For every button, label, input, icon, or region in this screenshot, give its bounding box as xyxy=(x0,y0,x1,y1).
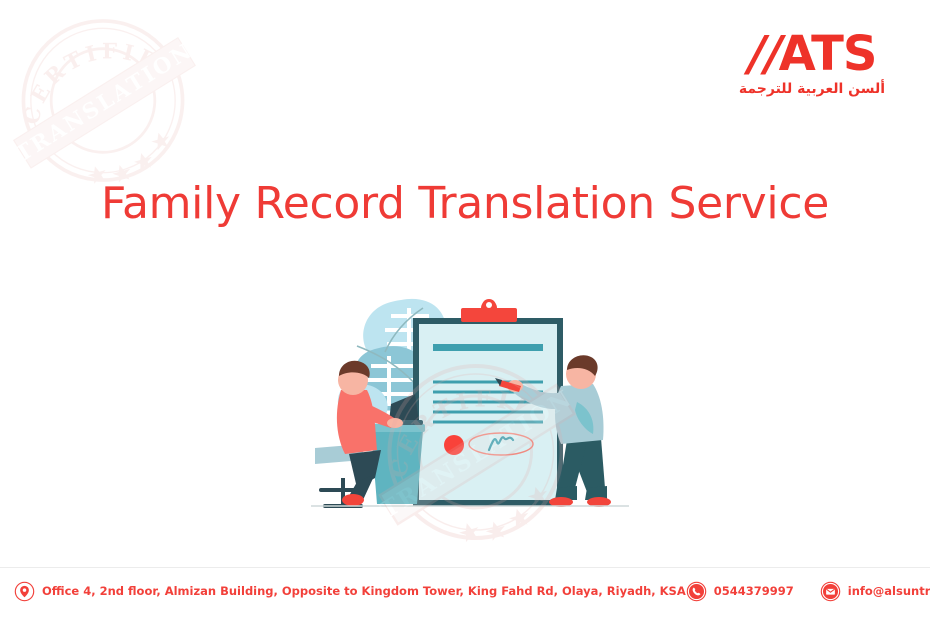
footer-divider xyxy=(0,567,930,568)
illustration-graphic xyxy=(305,282,635,522)
ats-logo: //ATS ألسن العربية للترجمة xyxy=(732,30,892,96)
logo-mark-text: ATS xyxy=(779,26,877,82)
footer-email-text: info@alsuntranslation.com xyxy=(848,584,930,598)
envelope-icon xyxy=(820,581,841,602)
footer-address: Office 4, 2nd floor, Almizan Building, O… xyxy=(14,581,686,602)
footer: Office 4, 2nd floor, Almizan Building, O… xyxy=(0,576,930,606)
document-signing-illustration xyxy=(305,282,635,522)
phone-icon xyxy=(686,581,707,602)
footer-phone[interactable]: 0544379997 xyxy=(686,581,794,602)
location-pin-icon xyxy=(14,581,35,602)
page-title: Family Record Translation Service xyxy=(0,178,930,229)
poster-page: CERTIFIED TRANSLATION //ATS ألسن العربية… xyxy=(0,0,930,620)
logo-mark: //ATS xyxy=(732,30,892,78)
svg-text:CERTIFIED: CERTIFIED xyxy=(8,19,188,133)
certified-translation-stamp-top-left: CERTIFIED TRANSLATION xyxy=(8,8,198,193)
footer-phone-text: 0544379997 xyxy=(714,584,794,598)
red-wax-seal-icon xyxy=(444,435,464,455)
logo-arabic-tagline: ألسن العربية للترجمة xyxy=(732,82,892,96)
footer-email[interactable]: info@alsuntranslation.com xyxy=(820,581,930,602)
stamp-graphic: CERTIFIED TRANSLATION xyxy=(8,8,198,193)
footer-address-text: Office 4, 2nd floor, Almizan Building, O… xyxy=(42,584,686,598)
svg-text:TRANSLATION: TRANSLATION xyxy=(11,38,197,167)
